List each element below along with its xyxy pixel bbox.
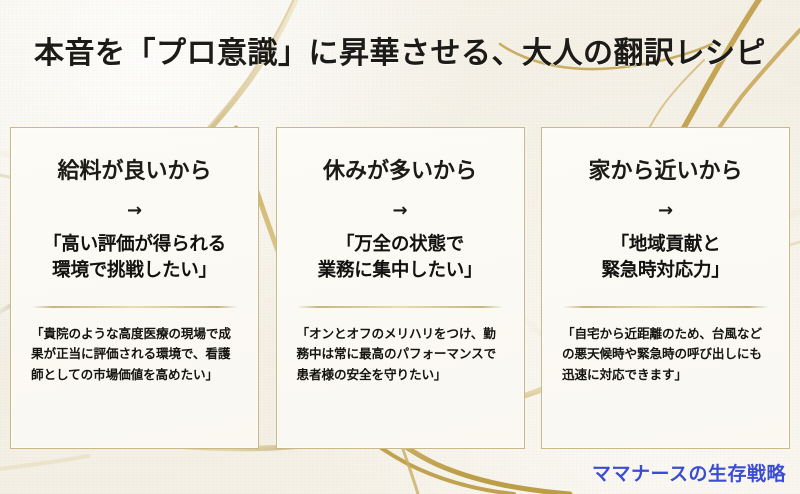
title-block: 本音を「プロ意識」に昇華させる、大人の翻訳レシピ	[0, 36, 800, 72]
translation-card-3[interactable]: 家から近いから → 「地域貢献と緊急時対応力」 「自宅から近距離のため、台風など…	[541, 127, 790, 449]
card-quote: 「高い評価が得られる環境で挑戦したい」	[43, 232, 226, 285]
card-heading: 給料が良いから	[57, 158, 211, 186]
card-inner: 休みが多いから → 「万全の状態で業務に集中したい」 「オンとオフのメリハリをつ…	[285, 136, 516, 440]
card-divider	[563, 306, 769, 308]
card-divider	[32, 306, 238, 308]
card-inner: 家から近いから → 「地域貢献と緊急時対応力」 「自宅から近距離のため、台風など…	[550, 136, 781, 440]
translation-card-1[interactable]: 給料が良いから → 「高い評価が得られる環境で挑戦したい」 「貴院のような高度医…	[10, 127, 259, 449]
arrow-icon: →	[392, 202, 407, 220]
card-body: 「オンとオフのメリハリをつけ、勤務中は常に最高のパフォーマンスで患者様の安全を守…	[297, 324, 504, 385]
slide-canvas: 本音を「プロ意識」に昇華させる、大人の翻訳レシピ 給料が良いから → 「高い評価…	[0, 0, 800, 494]
channel-watermark: ママナースの生存戦略	[592, 459, 786, 486]
card-quote: 「地域貢献と緊急時対応力」	[601, 232, 729, 285]
card-heading: 家から近いから	[588, 158, 742, 186]
cards-row: 給料が良いから → 「高い評価が得られる環境で挑戦したい」 「貴院のような高度医…	[10, 127, 790, 449]
card-body: 「自宅から近距離のため、台風などの悪天候時や緊急時の呼び出しにも迅速に対応できま…	[562, 324, 769, 385]
card-divider	[297, 306, 503, 308]
card-quote: 「万全の状態で業務に集中したい」	[318, 232, 483, 285]
card-heading: 休みが多いから	[323, 158, 477, 186]
card-body: 「貴院のような高度医療の現場で成果が正当に評価される環境で、看護師としての市場価…	[31, 324, 238, 385]
translation-card-2[interactable]: 休みが多いから → 「万全の状態で業務に集中したい」 「オンとオフのメリハリをつ…	[276, 127, 525, 449]
card-inner: 給料が良いから → 「高い評価が得られる環境で挑戦したい」 「貴院のような高度医…	[19, 136, 250, 440]
arrow-icon: →	[127, 202, 142, 220]
arrow-icon: →	[658, 202, 673, 220]
page-title: 本音を「プロ意識」に昇華させる、大人の翻訳レシピ	[0, 36, 800, 72]
